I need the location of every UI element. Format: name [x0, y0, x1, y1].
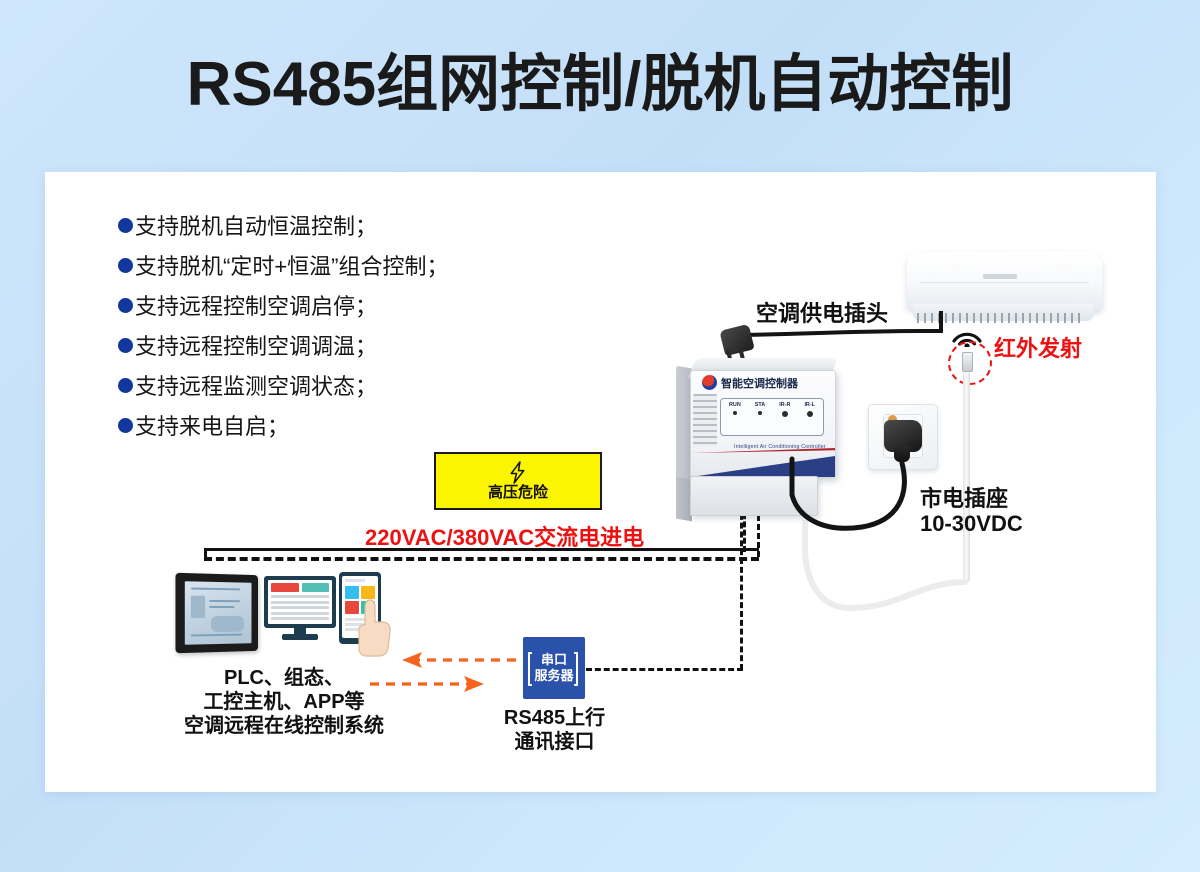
led-ir-r: IR-R — [779, 402, 790, 417]
pointing-hand-icon — [354, 596, 394, 658]
bullet-dot-icon — [118, 218, 133, 233]
panel-pc-screen — [185, 581, 252, 645]
ac-badge — [983, 274, 1017, 279]
monitor-tile-red — [271, 583, 299, 592]
led-indicator — [733, 411, 737, 415]
controller-led-group: RUN STA IR-R IR-L — [722, 402, 822, 417]
bullet-dot-icon — [118, 378, 133, 393]
feature-text: 支持脱机“定时+恒温”组合控制； — [135, 252, 449, 281]
desktop-monitor — [264, 576, 336, 638]
host-systems-line3: 空调远程在线控制系统 — [150, 714, 418, 738]
ir-emitter-device — [962, 352, 973, 372]
led-run: RUN — [729, 402, 741, 417]
controller-subtitle: Intelligent Air Conditioning Controller — [734, 444, 826, 450]
feature-list: 支持脱机自动恒温控制； 支持脱机“定时+恒温”组合控制； 支持远程控制空调启停；… — [118, 212, 588, 452]
led-indicator — [782, 411, 788, 417]
lightning-bolt-icon — [507, 461, 529, 484]
led-label: STA — [755, 402, 765, 409]
ac-plug-wire — [726, 305, 946, 345]
monitor-foot — [282, 634, 318, 640]
power-bus-line-top — [204, 548, 759, 551]
industrial-panel-pc — [175, 573, 258, 653]
bullet-dot-icon — [118, 298, 133, 313]
list-item: 支持远程控制空调启停； — [118, 292, 588, 321]
page-title: RS485组网控制/脱机自动控制 — [0, 46, 1200, 124]
poster-root: RS485组网控制/脱机自动控制 支持脱机自动恒温控制； 支持脱机“定时+恒温”… — [0, 0, 1200, 872]
serial-server-caption-line2: 通讯接口 — [462, 730, 647, 754]
list-item: 支持脱机自动恒温控制； — [118, 212, 588, 241]
list-item: 支持远程监测空调状态； — [118, 372, 588, 401]
list-item: 支持脱机“定时+恒温”组合控制； — [118, 252, 588, 281]
company-logo-icon — [702, 375, 717, 390]
controller-vents — [693, 394, 717, 446]
controller-brand-label: 智能空调控制器 — [721, 375, 798, 391]
ac-seam — [919, 282, 1089, 283]
list-item: 支持来电自启； — [118, 412, 588, 441]
bullet-dot-icon — [118, 338, 133, 353]
led-ir-l: IR-L — [804, 402, 814, 417]
bullet-dot-icon — [118, 418, 133, 433]
feature-text: 支持远程控制空调启停； — [135, 292, 377, 321]
feature-text: 支持脱机自动恒温控制； — [135, 212, 377, 241]
warning-label: 高压危险 — [488, 485, 548, 501]
power-bus-left-cap — [204, 548, 207, 560]
socket-label: 市电插座 10-30VDC — [920, 486, 1023, 536]
serial-server-caption: RS485上行 通讯接口 — [462, 706, 647, 754]
led-indicator — [758, 411, 762, 415]
dc-power-cable — [770, 455, 930, 575]
rs485-line-horizontal — [586, 668, 743, 671]
monitor-screen — [268, 580, 332, 624]
socket-label-line1: 市电插座 — [920, 486, 1023, 511]
serial-server-line2: 服务器 — [534, 668, 573, 684]
led-label: RUN — [729, 402, 741, 409]
ac-body — [907, 251, 1103, 310]
led-indicator — [807, 411, 813, 417]
high-voltage-warning-box: 高压危险 — [434, 452, 602, 510]
serial-server-lug-right — [574, 652, 578, 686]
serial-server-caption-line1: RS485上行 — [462, 706, 647, 730]
data-flow-arrow-right — [368, 674, 518, 694]
host-device-group — [176, 568, 376, 663]
led-label: IR-L — [804, 402, 814, 409]
feature-text: 支持远程控制空调调温； — [135, 332, 377, 361]
ir-emitter-label: 红外发射 — [994, 331, 1082, 363]
socket-label-line2: 10-30VDC — [920, 511, 1023, 536]
power-bus-line-bottom — [204, 557, 759, 561]
feature-text: 支持远程监测空调状态； — [135, 372, 377, 401]
feature-text: 支持来电自启； — [135, 412, 289, 441]
monitor-table-rows — [271, 595, 329, 623]
led-label: IR-R — [779, 402, 790, 409]
bullet-dot-icon — [118, 258, 133, 273]
serial-server-line1: 串口 — [541, 652, 567, 668]
rs485-line-vertical — [740, 505, 743, 670]
monitor-tile-teal — [302, 583, 329, 592]
data-flow-arrow-left — [368, 650, 518, 670]
led-sta: STA — [755, 402, 765, 417]
serial-server-lug-left — [528, 652, 532, 686]
list-item: 支持远程控制空调调温； — [118, 332, 588, 361]
